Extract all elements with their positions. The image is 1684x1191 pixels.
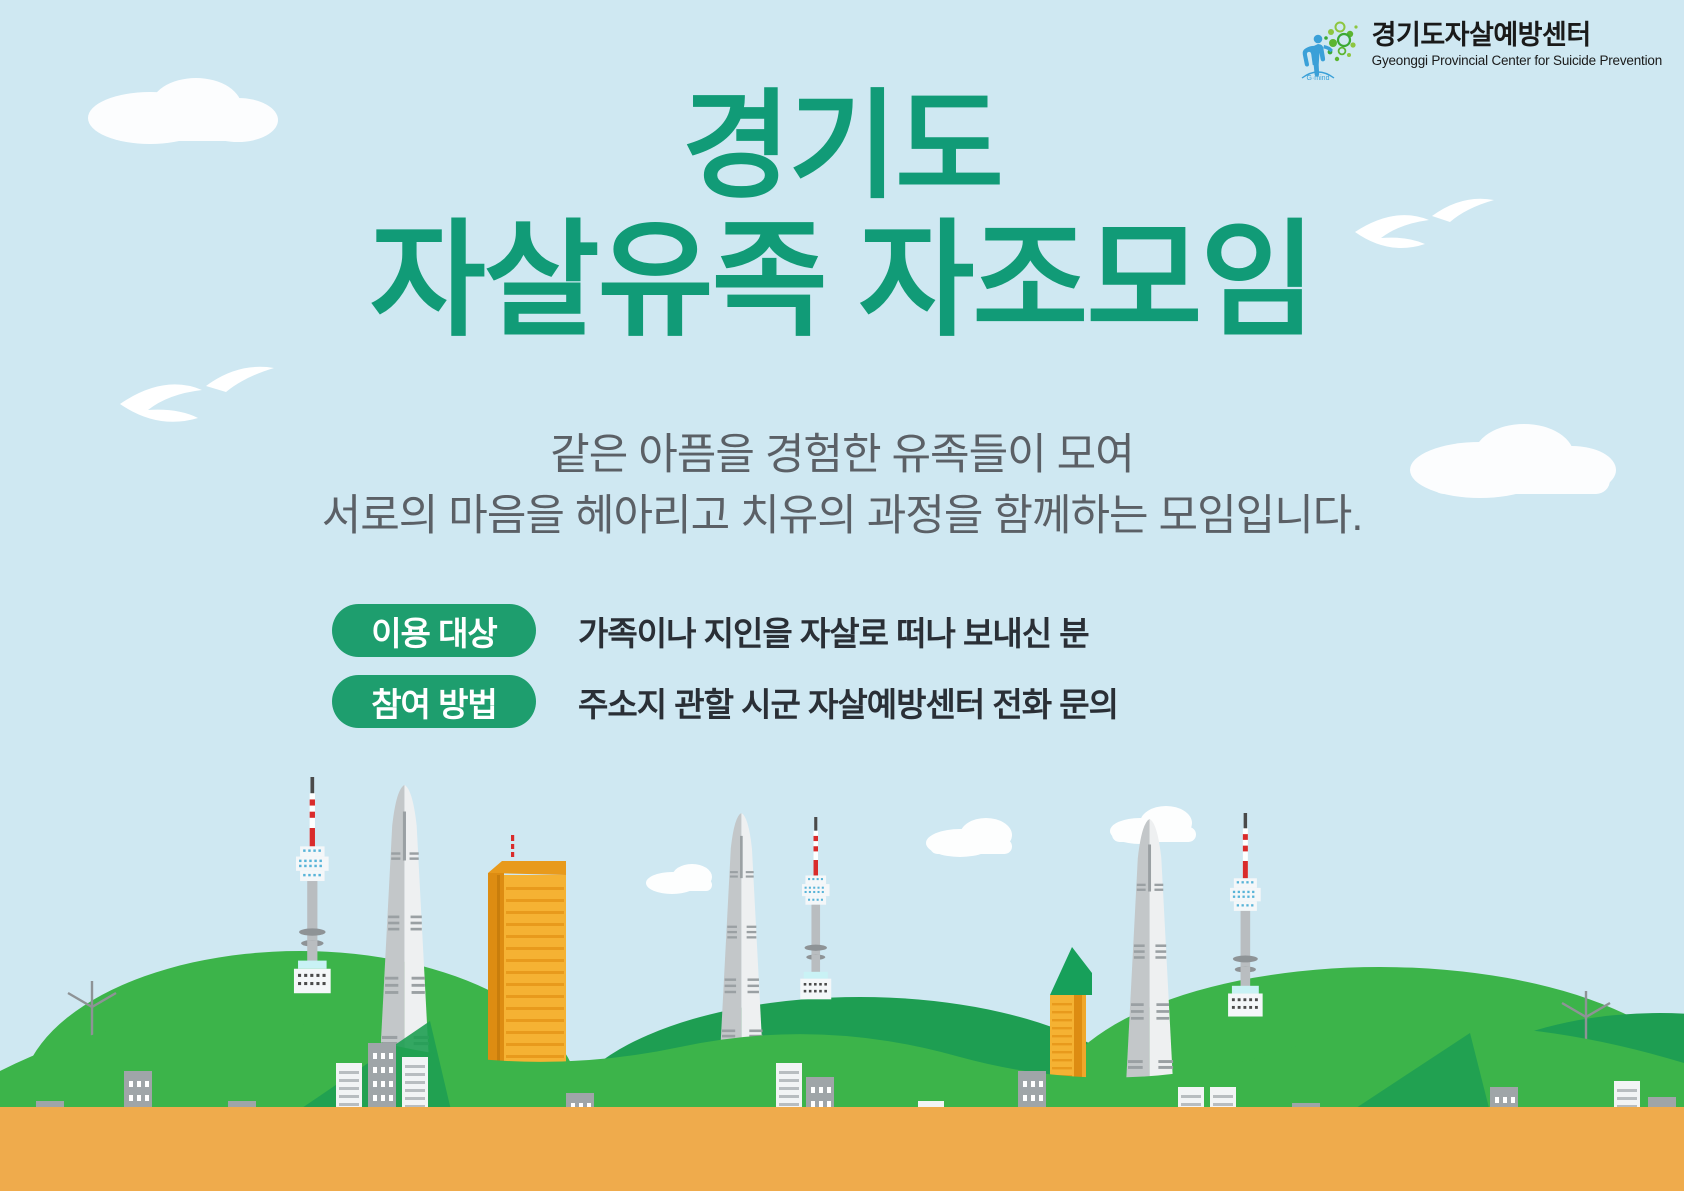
n-seoul-tower-mid	[800, 817, 831, 999]
63-building	[488, 835, 566, 1087]
info-target-text: 가족이나 지인을 자살로 떠나 보내신 분	[578, 607, 1089, 655]
logo-english-name: Gyeonggi Provincial Center for Suicide P…	[1372, 54, 1662, 68]
cloud-icon	[926, 818, 1012, 857]
subtitle-line-1: 같은 아픔을 경험한 유족들이 모여	[0, 425, 1684, 486]
logo-korean-name: 경기도자살예방센터	[1372, 22, 1662, 49]
title-line-2: 자살유족 자조모임	[0, 215, 1684, 346]
n-seoul-tower	[294, 777, 331, 993]
green-roof-tower	[1050, 947, 1092, 1087]
info-list: 이용 대상 가족이나 지인을 자살로 떠나 보내신 분 참여 방법 주소지 관할…	[332, 604, 1118, 728]
logo-badge-text: G·mind	[1306, 75, 1329, 82]
subtitle: 같은 아픔을 경험한 유족들이 모여 서로의 마음을 헤아리고 치유의 과정을 …	[0, 425, 1684, 547]
badge-method-label: 참여 방법	[332, 675, 536, 728]
badge-target-label: 이용 대상	[332, 604, 536, 657]
ground-band	[0, 1107, 1684, 1191]
bird-icon	[120, 367, 274, 422]
organization-logo: G·mind 경기도자살예방센터 Gyeonggi Provincial Cen…	[1300, 18, 1662, 82]
subtitle-line-2: 서로의 마음을 헤아리고 치유의 과정을 함께하는 모임입니다.	[0, 486, 1684, 547]
info-row-target: 이용 대상 가족이나 지인을 자살로 떠나 보내신 분	[332, 604, 1118, 657]
n-seoul-tower-right	[1228, 813, 1263, 1017]
title-line-1: 경기도	[0, 86, 1684, 209]
city-skyline-illustration	[0, 771, 1684, 1191]
page-title: 경기도 자살유족 자조모임	[0, 86, 1684, 346]
poster-root: G·mind 경기도자살예방센터 Gyeonggi Provincial Cen…	[0, 0, 1684, 1191]
g-mind-figure-icon: G·mind	[1300, 18, 1362, 82]
lotte-world-tower-right	[1126, 819, 1173, 1084]
lotte-world-tower-mid	[720, 813, 762, 1051]
info-row-method: 참여 방법 주소지 관할 시군 자살예방센터 전화 문의	[332, 675, 1118, 728]
lotte-world-tower	[380, 785, 429, 1060]
cloud-icon	[646, 864, 712, 894]
info-method-text: 주소지 관할 시군 자살예방센터 전화 문의	[578, 678, 1118, 726]
